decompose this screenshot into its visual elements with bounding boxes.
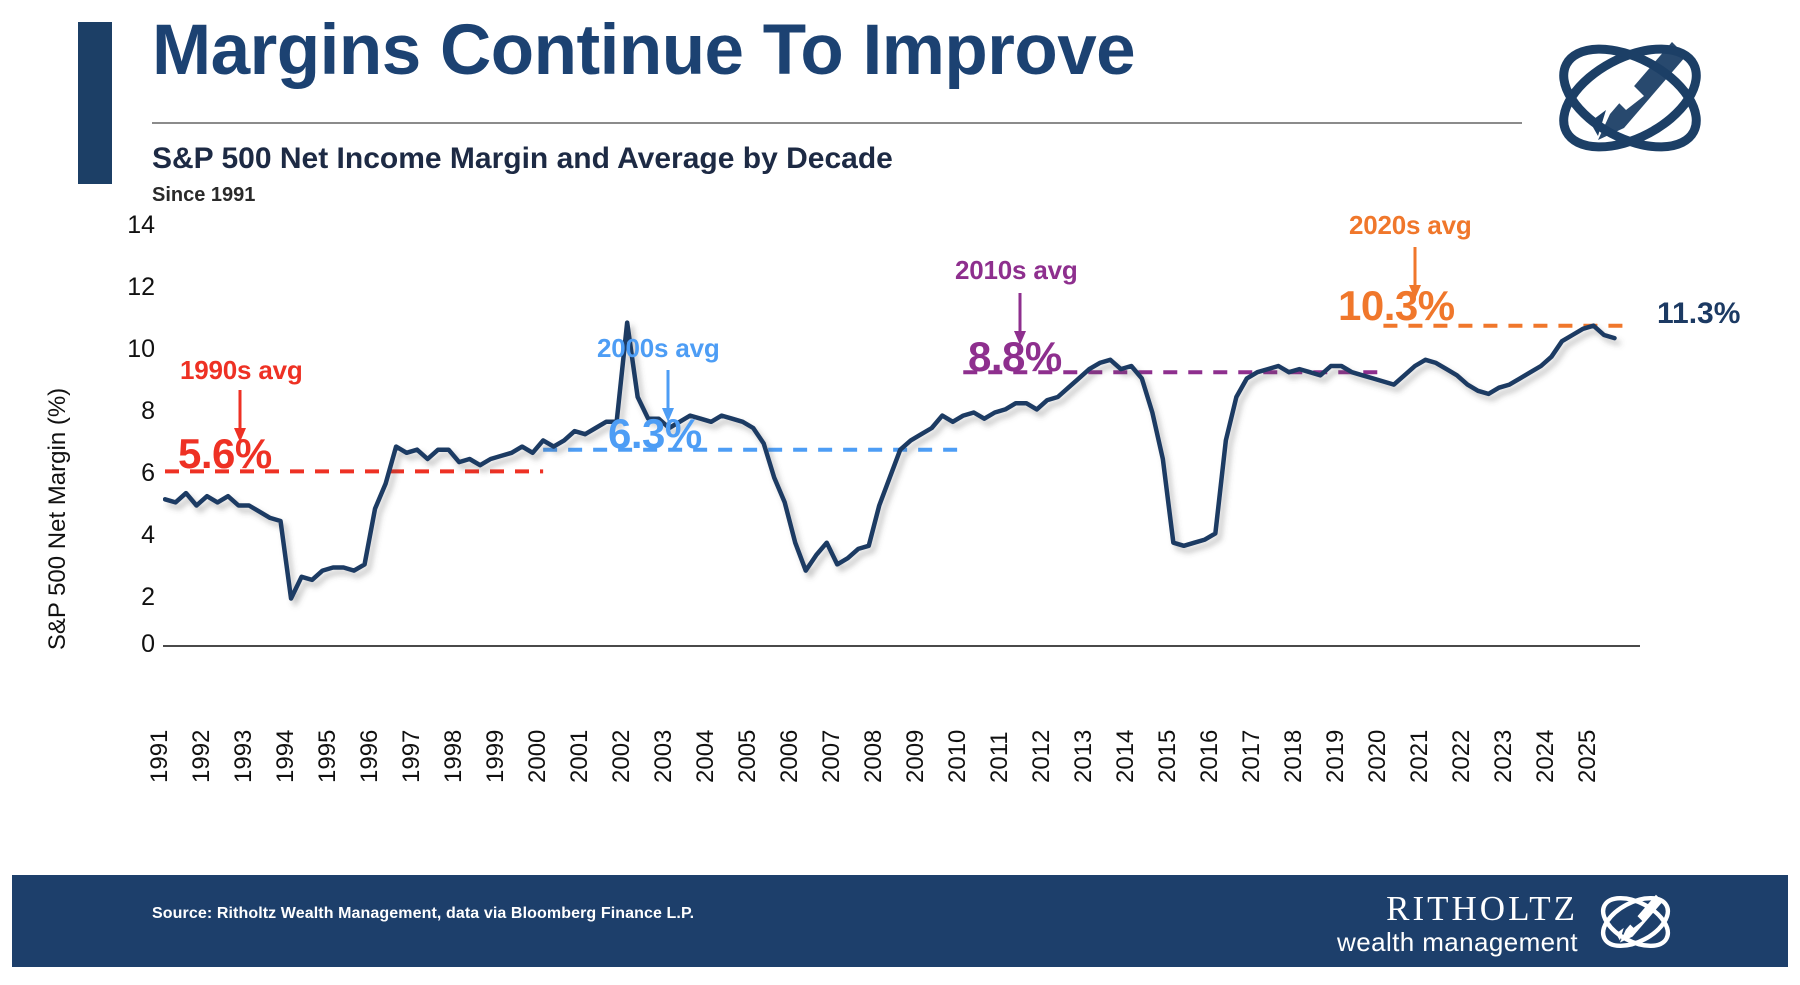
slide-root: Margins Continue To Improve S&P 500 Net … — [0, 0, 1800, 985]
annotation-1990s-label: 1990s avg — [180, 355, 303, 386]
x-tick-2019: 2019 — [1322, 753, 1350, 783]
x-tick-2025: 2025 — [1574, 753, 1602, 783]
x-tick-2017: 2017 — [1238, 753, 1266, 783]
annotation-2020s-arrow-icon — [1405, 247, 1425, 299]
x-axis-ticks: 1991199219931994199519961997199819992000… — [163, 655, 1633, 785]
x-tick-2023: 2023 — [1490, 753, 1518, 783]
x-tick-2014: 2014 — [1112, 753, 1140, 783]
annotation-2000s-label: 2000s avg — [597, 333, 720, 364]
x-tick-1995: 1995 — [314, 753, 342, 783]
x-tick-2000: 2000 — [524, 753, 552, 783]
y-tick-10: 10 — [95, 335, 155, 364]
end-value-label: 11.3% — [1657, 297, 1740, 331]
x-tick-1994: 1994 — [272, 753, 300, 783]
ritholtz-rocket-logo-icon — [1540, 18, 1720, 178]
x-tick-2008: 2008 — [860, 753, 888, 783]
annotation-2000s-value: 6.3% — [608, 410, 702, 458]
footer-brand-line1: RITHOLTZ — [1337, 891, 1578, 926]
x-tick-2011: 2011 — [986, 753, 1014, 783]
y-tick-2: 2 — [95, 583, 155, 612]
source-note: Source: Ritholtz Wealth Management, data… — [152, 905, 694, 923]
x-tick-2020: 2020 — [1364, 753, 1392, 783]
y-tick-8: 8 — [95, 397, 155, 426]
x-tick-1991: 1991 — [146, 753, 174, 783]
annotation-2010s-arrow-icon — [1010, 293, 1030, 345]
chart-container: S&P 500 Net Margin (%) 14 12 10 8 6 4 2 … — [0, 205, 1800, 845]
x-tick-2022: 2022 — [1448, 753, 1476, 783]
annotation-1990s-arrow-icon — [230, 390, 250, 442]
title-divider — [152, 122, 1522, 124]
x-tick-2021: 2021 — [1406, 753, 1434, 783]
x-tick-2002: 2002 — [608, 753, 636, 783]
x-tick-1996: 1996 — [356, 753, 384, 783]
x-tick-2018: 2018 — [1280, 753, 1308, 783]
annotation-2020s-label: 2020s avg — [1349, 210, 1472, 241]
x-tick-2024: 2024 — [1532, 753, 1560, 783]
x-axis-line — [163, 645, 1640, 647]
y-tick-4: 4 — [95, 521, 155, 550]
y-axis-label: S&P 500 Net Margin (%) — [44, 309, 72, 729]
x-tick-1992: 1992 — [188, 753, 216, 783]
header: Margins Continue To Improve S&P 500 Net … — [0, 0, 1800, 210]
average-lines-group — [165, 326, 1625, 472]
y-tick-14: 14 — [95, 211, 155, 240]
footer-brand-line2: wealth management — [1337, 928, 1578, 957]
annotation-1990s-value: 5.6% — [178, 430, 272, 478]
net-margin-line — [165, 323, 1615, 599]
page-subtitle: S&P 500 Net Income Margin and Average by… — [152, 142, 893, 176]
x-tick-2016: 2016 — [1196, 753, 1224, 783]
footer-brand: RITHOLTZ wealth management — [1337, 891, 1578, 957]
x-tick-2007: 2007 — [818, 753, 846, 783]
page-since-note: Since 1991 — [152, 184, 255, 207]
footer: Source: Ritholtz Wealth Management, data… — [12, 875, 1788, 967]
annotation-2020s-value: 10.3% — [1338, 282, 1455, 330]
x-tick-2013: 2013 — [1070, 753, 1098, 783]
x-tick-1998: 1998 — [440, 753, 468, 783]
x-tick-2001: 2001 — [566, 753, 594, 783]
x-tick-2005: 2005 — [734, 753, 762, 783]
x-tick-2006: 2006 — [776, 753, 804, 783]
x-tick-2010: 2010 — [944, 753, 972, 783]
x-tick-2015: 2015 — [1154, 753, 1182, 783]
x-tick-2004: 2004 — [692, 753, 720, 783]
x-tick-1993: 1993 — [230, 753, 258, 783]
x-tick-1999: 1999 — [482, 753, 510, 783]
y-tick-12: 12 — [95, 273, 155, 302]
accent-bar — [78, 22, 112, 184]
x-tick-2012: 2012 — [1028, 753, 1056, 783]
x-tick-2009: 2009 — [902, 753, 930, 783]
annotation-2010s-label: 2010s avg — [955, 255, 1078, 286]
y-tick-6: 6 — [95, 459, 155, 488]
y-tick-0: 0 — [95, 630, 155, 659]
page-title: Margins Continue To Improve — [152, 14, 1135, 89]
x-tick-2003: 2003 — [650, 753, 678, 783]
annotation-2000s-arrow-icon — [658, 370, 678, 422]
y-axis-ticks: 14 12 10 8 6 4 2 0 — [95, 205, 155, 675]
footer-ritholtz-rocket-logo-icon — [1583, 883, 1688, 961]
x-tick-1997: 1997 — [398, 753, 426, 783]
